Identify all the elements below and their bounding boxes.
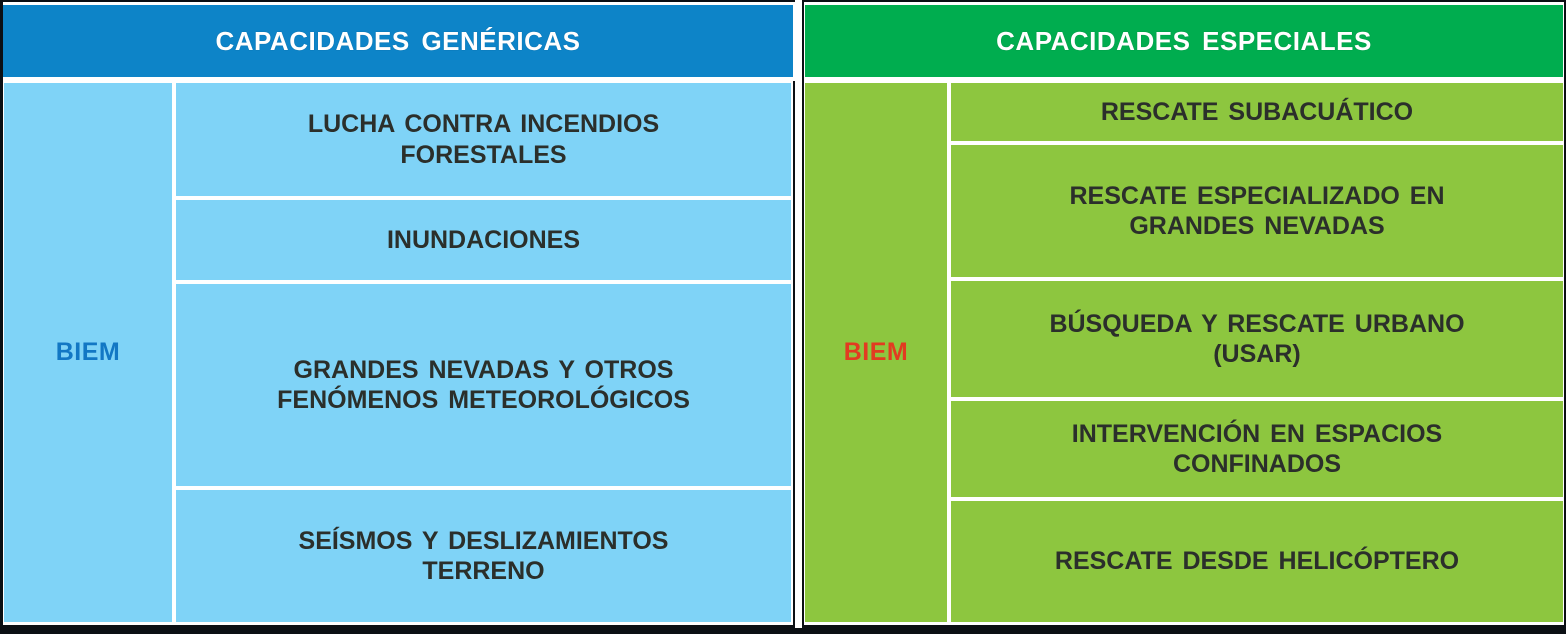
unit-label-biem-especiales: BIEM — [805, 83, 947, 622]
capacidades-especiales-rows: RESCATE SUBACUÁTICO RESCATE ESPECIALIZAD… — [951, 83, 1563, 622]
table-row[interactable]: LUCHA CONTRA INCENDIOS FORESTALES — [176, 83, 791, 196]
capacidades-especiales-header: CAPACIDADES ESPECIALES — [805, 5, 1563, 81]
row-line-2: TERRENO — [299, 556, 669, 587]
row-line-1: INTERVENCIÓN EN ESPACIOS — [1072, 419, 1442, 450]
table-row[interactable]: RESCATE DESDE HELICÓPTERO — [951, 501, 1563, 622]
table-row[interactable]: GRANDES NEVADAS Y OTROS FENÓMENOS METEOR… — [176, 284, 791, 486]
capacidades-genericas-header: CAPACIDADES GENÉRICAS — [3, 5, 793, 81]
row-line-1: RESCATE SUBACUÁTICO — [1101, 97, 1413, 128]
capacidades-especiales-body: BIEM RESCATE SUBACUÁTICO RESCATE ESPECIA… — [804, 81, 1564, 625]
table-row[interactable]: RESCATE SUBACUÁTICO — [951, 83, 1563, 141]
row-line-1: INUNDACIONES — [387, 225, 580, 256]
capacidades-genericas-body: BIEM LUCHA CONTRA INCENDIOS FORESTALES I… — [3, 81, 795, 628]
row-line-1: GRANDES NEVADAS Y OTROS — [277, 355, 690, 386]
row-line-1: RESCATE ESPECIALIZADO EN — [1069, 181, 1444, 212]
row-line-2: FORESTALES — [308, 140, 659, 171]
row-line-2: FENÓMENOS METEOROLÓGICOS — [277, 385, 690, 416]
table-row[interactable]: RESCATE ESPECIALIZADO EN GRANDES NEVADAS — [951, 145, 1563, 277]
table-row[interactable]: BÚSQUEDA Y RESCATE URBANO (USAR) — [951, 281, 1563, 397]
bottom-edge-strip — [0, 628, 1566, 634]
capacidades-genericas-table: CAPACIDADES GENÉRICAS BIEM LUCHA CONTRA … — [0, 0, 795, 628]
row-line-1: BÚSQUEDA Y RESCATE URBANO — [1049, 309, 1464, 340]
row-line-2: GRANDES NEVADAS — [1069, 211, 1444, 242]
row-line-1: SEÍSMOS Y DESLIZAMIENTOS — [299, 526, 669, 557]
capacidades-especiales-table: CAPACIDADES ESPECIALES BIEM RESCATE SUBA… — [802, 0, 1566, 628]
row-line-2: (USAR) — [1049, 339, 1464, 370]
table-row[interactable]: SEÍSMOS Y DESLIZAMIENTOS TERRENO — [176, 490, 791, 622]
row-line-1: RESCATE DESDE HELICÓPTERO — [1055, 546, 1459, 577]
capacidades-board: CAPACIDADES GENÉRICAS BIEM LUCHA CONTRA … — [0, 0, 1566, 634]
capacidades-genericas-rows: LUCHA CONTRA INCENDIOS FORESTALES INUNDA… — [176, 83, 791, 622]
table-row[interactable]: INTERVENCIÓN EN ESPACIOS CONFINADOS — [951, 401, 1563, 497]
row-line-1: LUCHA CONTRA INCENDIOS — [308, 109, 659, 140]
row-line-2: CONFINADOS — [1072, 449, 1442, 480]
unit-label-biem-genericas: BIEM — [4, 83, 172, 622]
table-row[interactable]: INUNDACIONES — [176, 200, 791, 280]
